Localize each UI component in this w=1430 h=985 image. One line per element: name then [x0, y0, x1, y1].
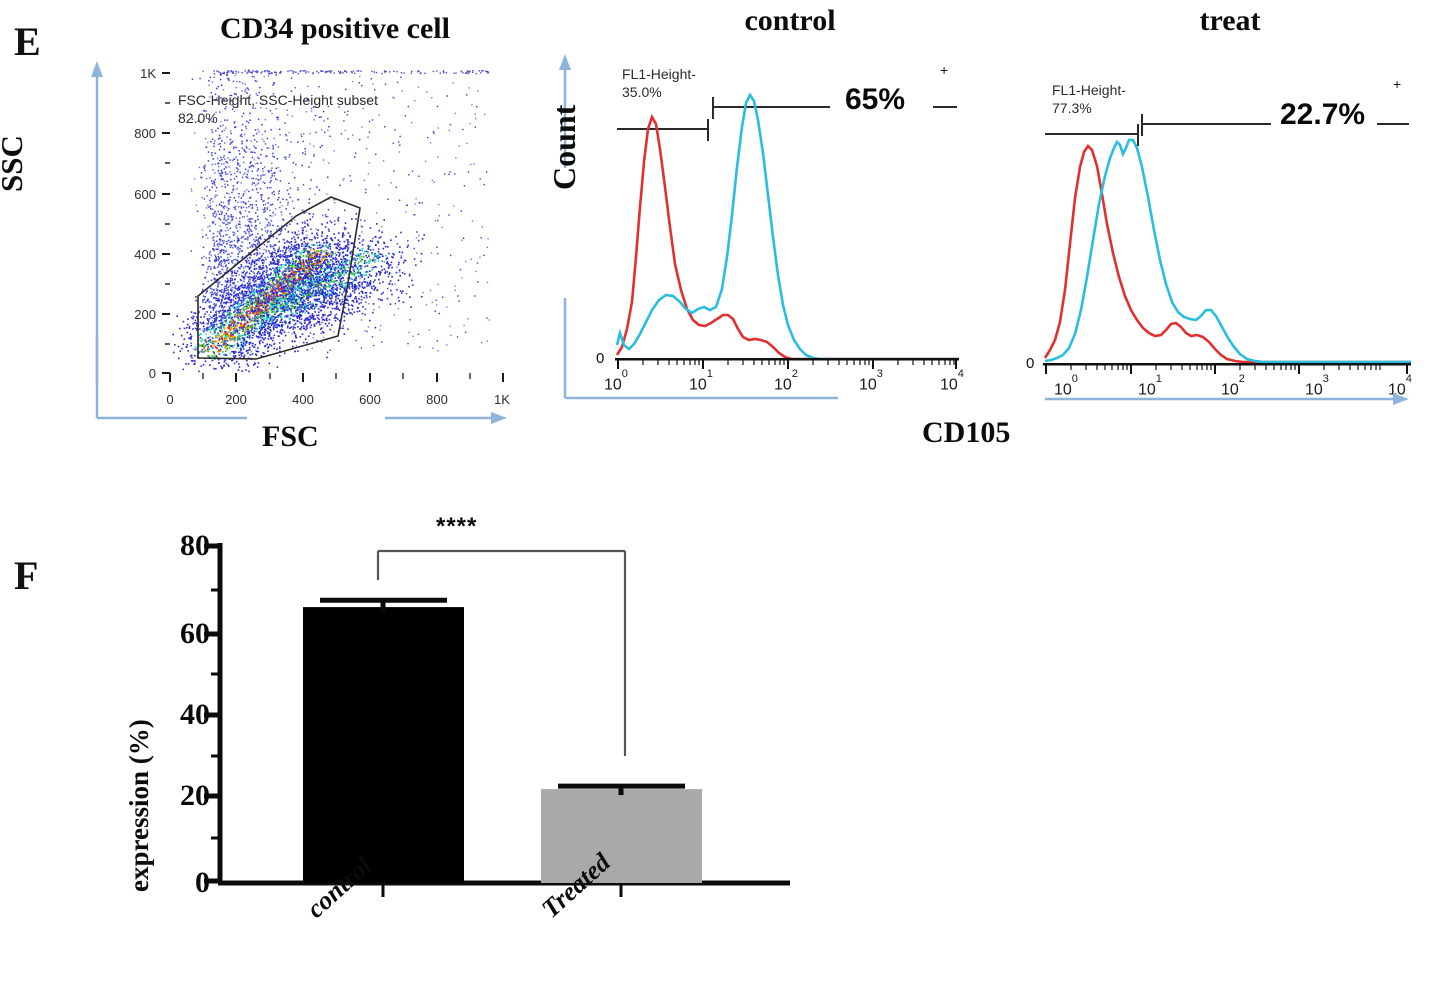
bar-chart-plot	[0, 490, 840, 985]
control-xtick-1e3: 103	[859, 374, 883, 394]
control-zero-label: 0	[596, 350, 604, 367]
control-histogram-curves	[615, 57, 959, 360]
treat-fl1-note: FL1-Height- 77.3%	[1052, 82, 1126, 117]
control-fl1-note: FL1-Height- 35.0%	[622, 66, 696, 101]
control-y-axis-label: Count	[548, 105, 580, 190]
scatter-ytick-1k: 1K	[108, 66, 156, 81]
treat-positive-marker: +	[1393, 76, 1401, 92]
control-xtick-1e2: 102	[774, 374, 798, 394]
control-xtick-1e0: 100	[604, 374, 628, 394]
scatter-xtick-600: 600	[352, 392, 388, 407]
scatter-ytick-600: 600	[108, 187, 156, 202]
bar-chart: expression (%) 80 60 40 20 0	[0, 490, 840, 985]
scatter-tick-marks	[140, 60, 520, 390]
shared-x-axis-label: CD105	[922, 418, 1010, 448]
scatter-xtick-800: 800	[419, 392, 455, 407]
scatter-x-axis-label: FSC	[262, 422, 319, 452]
treat-zero-label: 0	[1026, 355, 1034, 372]
treat-histogram-title: treat	[1080, 6, 1380, 36]
treat-x-tick-marks	[1043, 363, 1415, 379]
scatter-y-axis-label: SSC	[0, 135, 27, 192]
control-positive-marker: +	[940, 62, 948, 78]
scatter-ytick-200: 200	[108, 307, 156, 322]
scatter-xtick-400: 400	[285, 392, 321, 407]
control-gate-percent: 65%	[845, 85, 905, 115]
treat-gate-percent: 22.7%	[1280, 100, 1365, 130]
bar-control	[303, 607, 464, 883]
scatter-plot-title: CD34 positive cell	[150, 14, 520, 44]
panel-letter-e: E	[14, 22, 41, 62]
control-xtick-1e1: 101	[689, 374, 713, 394]
scatter-ytick-400: 400	[108, 247, 156, 262]
scatter-xtick-200: 200	[218, 392, 254, 407]
figure-canvas: E F CD34 positive cell control treat FSC…	[0, 0, 1430, 985]
scatter-ytick-0: 0	[108, 366, 156, 381]
bar-treated	[541, 789, 702, 883]
control-xtick-1e4: 104	[940, 374, 964, 394]
scatter-xtick-0: 0	[158, 392, 182, 407]
significance-stars: ****	[436, 513, 477, 541]
control-histogram-title: control	[620, 6, 960, 36]
treat-axis-arrow	[1043, 388, 1415, 412]
scatter-xtick-1k: 1K	[487, 392, 517, 407]
control-x-tick-marks	[615, 358, 963, 374]
scatter-ytick-800: 800	[108, 126, 156, 141]
